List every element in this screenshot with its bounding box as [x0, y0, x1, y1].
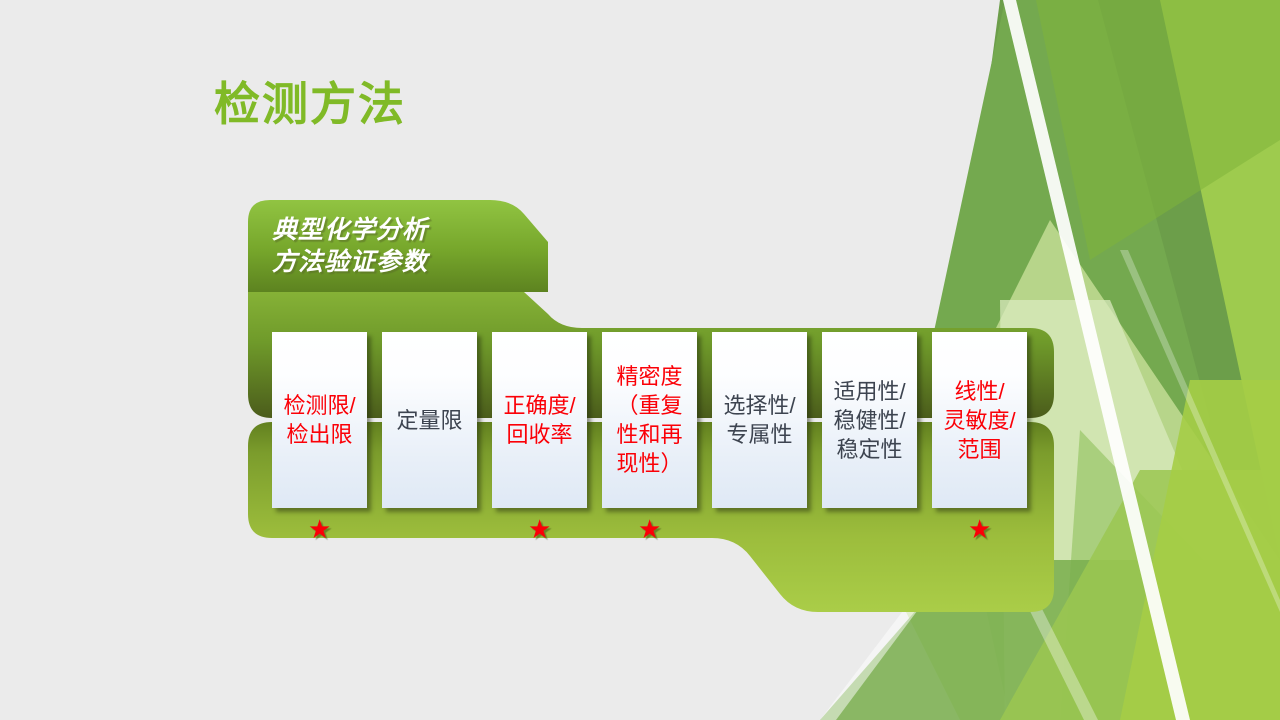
card-applicability-label: 适用性/稳健性/稳定性 [826, 377, 913, 464]
card-precision-label-line: （重复 [606, 391, 693, 420]
card-selectivity-label-line: 选择性/ [716, 391, 803, 420]
card-linearity-label-line: 线性/ [936, 377, 1023, 406]
card-detection-limit-label-line: 检出限 [276, 420, 363, 449]
card-linearity-label: 线性/灵敏度/范围 [936, 377, 1023, 464]
card-detection-limit-label: 检测限/检出限 [276, 391, 363, 449]
card-precision-star-icon: ★ [638, 516, 661, 542]
card-quantitation-limit-label: 定量限 [386, 406, 473, 435]
card-accuracy-star-icon: ★ [528, 516, 551, 542]
card-applicability-label-line: 稳健性/ [826, 406, 913, 435]
slide-canvas: 检测方法 [0, 0, 1280, 720]
card-selectivity-label-line: 专属性 [716, 420, 803, 449]
card-linearity[interactable]: 线性/灵敏度/范围 [932, 332, 1027, 508]
card-linearity-label-line: 范围 [936, 435, 1023, 464]
card-accuracy[interactable]: 正确度/回收率 [492, 332, 587, 508]
card-applicability-label-line: 适用性/ [826, 377, 913, 406]
validation-parameters-diagram: 典型化学分析 方法验证参数 检测限/检出限★定量限正确度/回收率★精密度（重复性… [248, 200, 1054, 612]
card-detection-limit[interactable]: 检测限/检出限 [272, 332, 367, 508]
card-accuracy-label: 正确度/回收率 [496, 391, 583, 449]
card-detection-limit-star-icon: ★ [308, 516, 331, 542]
parameter-card-list: 检测限/检出限★定量限正确度/回收率★精密度（重复性和再现性）★选择性/专属性适… [248, 200, 1054, 612]
page-title: 检测方法 [214, 68, 406, 134]
card-applicability-label-line: 稳定性 [826, 435, 913, 464]
card-precision-label-line: 精密度 [606, 362, 693, 391]
card-accuracy-label-line: 回收率 [496, 420, 583, 449]
card-precision-label-line: 现性） [606, 449, 693, 478]
card-selectivity[interactable]: 选择性/专属性 [712, 332, 807, 508]
card-linearity-label-line: 灵敏度/ [936, 406, 1023, 435]
card-selectivity-label: 选择性/专属性 [716, 391, 803, 449]
card-quantitation-limit-label-line: 定量限 [386, 406, 473, 435]
card-applicability[interactable]: 适用性/稳健性/稳定性 [822, 332, 917, 508]
card-accuracy-label-line: 正确度/ [496, 391, 583, 420]
card-precision[interactable]: 精密度（重复性和再现性） [602, 332, 697, 508]
card-linearity-star-icon: ★ [968, 516, 991, 542]
card-precision-label: 精密度（重复性和再现性） [606, 362, 693, 478]
card-precision-label-line: 性和再 [606, 420, 693, 449]
card-detection-limit-label-line: 检测限/ [276, 391, 363, 420]
card-quantitation-limit[interactable]: 定量限 [382, 332, 477, 508]
